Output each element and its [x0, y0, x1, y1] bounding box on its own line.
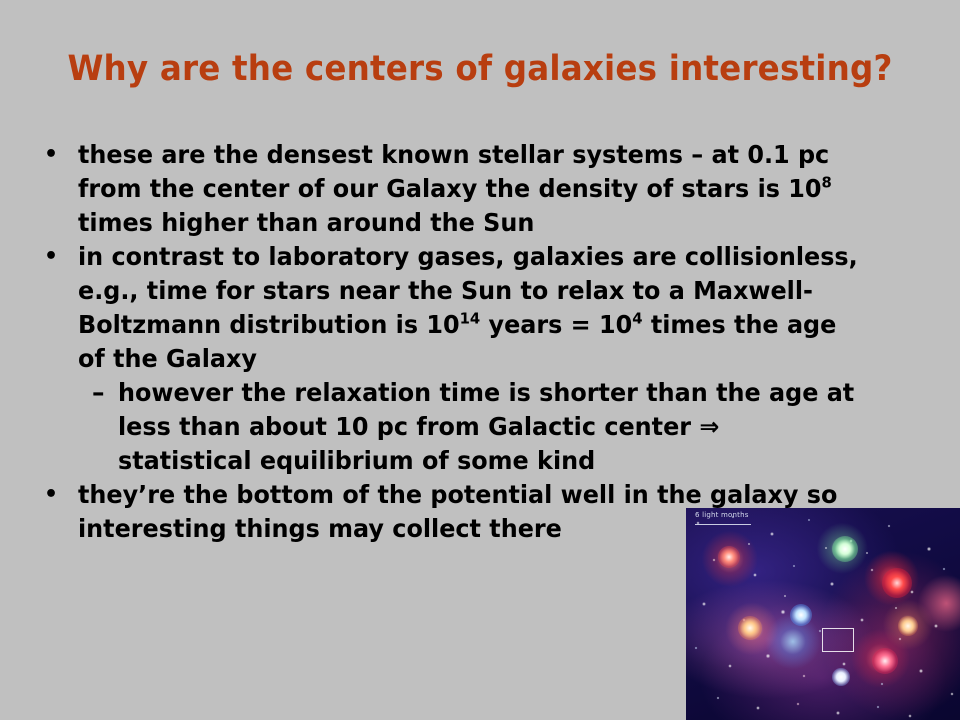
bright-star-green — [832, 536, 858, 562]
bright-star-salmon — [718, 546, 740, 568]
bright-star-white-lower — [832, 668, 850, 686]
bullet-text: in contrast to laboratory gases, galaxie… — [78, 240, 863, 376]
scale-bar-label: 6 light months — [695, 511, 749, 519]
bright-star-blue — [790, 604, 812, 626]
superscript: 8 — [822, 174, 832, 192]
bright-star-pink — [872, 648, 898, 674]
superscript: 4 — [632, 310, 642, 328]
bright-star-orange — [738, 616, 762, 640]
slide-title: Why are the centers of galaxies interest… — [34, 48, 927, 90]
bullet-marker: • — [44, 240, 64, 274]
slide: Why are the centers of galaxies interest… — [0, 0, 960, 720]
sub-bullet-text: however the relaxation time is shorter t… — [118, 376, 855, 478]
galactic-center-image: 6 light months — [686, 508, 960, 720]
bullet-marker: • — [44, 138, 64, 172]
bullet-item: • in contrast to laboratory gases, galax… — [44, 240, 960, 376]
bullet-item: • these are the densest known stellar sy… — [44, 138, 960, 240]
sub-bullet-item: – however the relaxation time is shorter… — [92, 376, 960, 478]
bullet-marker: • — [44, 478, 64, 512]
star-points — [686, 508, 960, 720]
slide-body: • these are the densest known stellar sy… — [0, 138, 960, 546]
sub-bullet-marker: – — [92, 376, 110, 410]
annotation-box — [822, 628, 854, 652]
bright-star-amber-right — [898, 616, 918, 636]
scale-bar — [695, 524, 751, 525]
bullet-text: these are the densest known stellar syst… — [78, 138, 863, 240]
bright-star-red — [882, 568, 912, 598]
superscript: 14 — [460, 310, 481, 328]
